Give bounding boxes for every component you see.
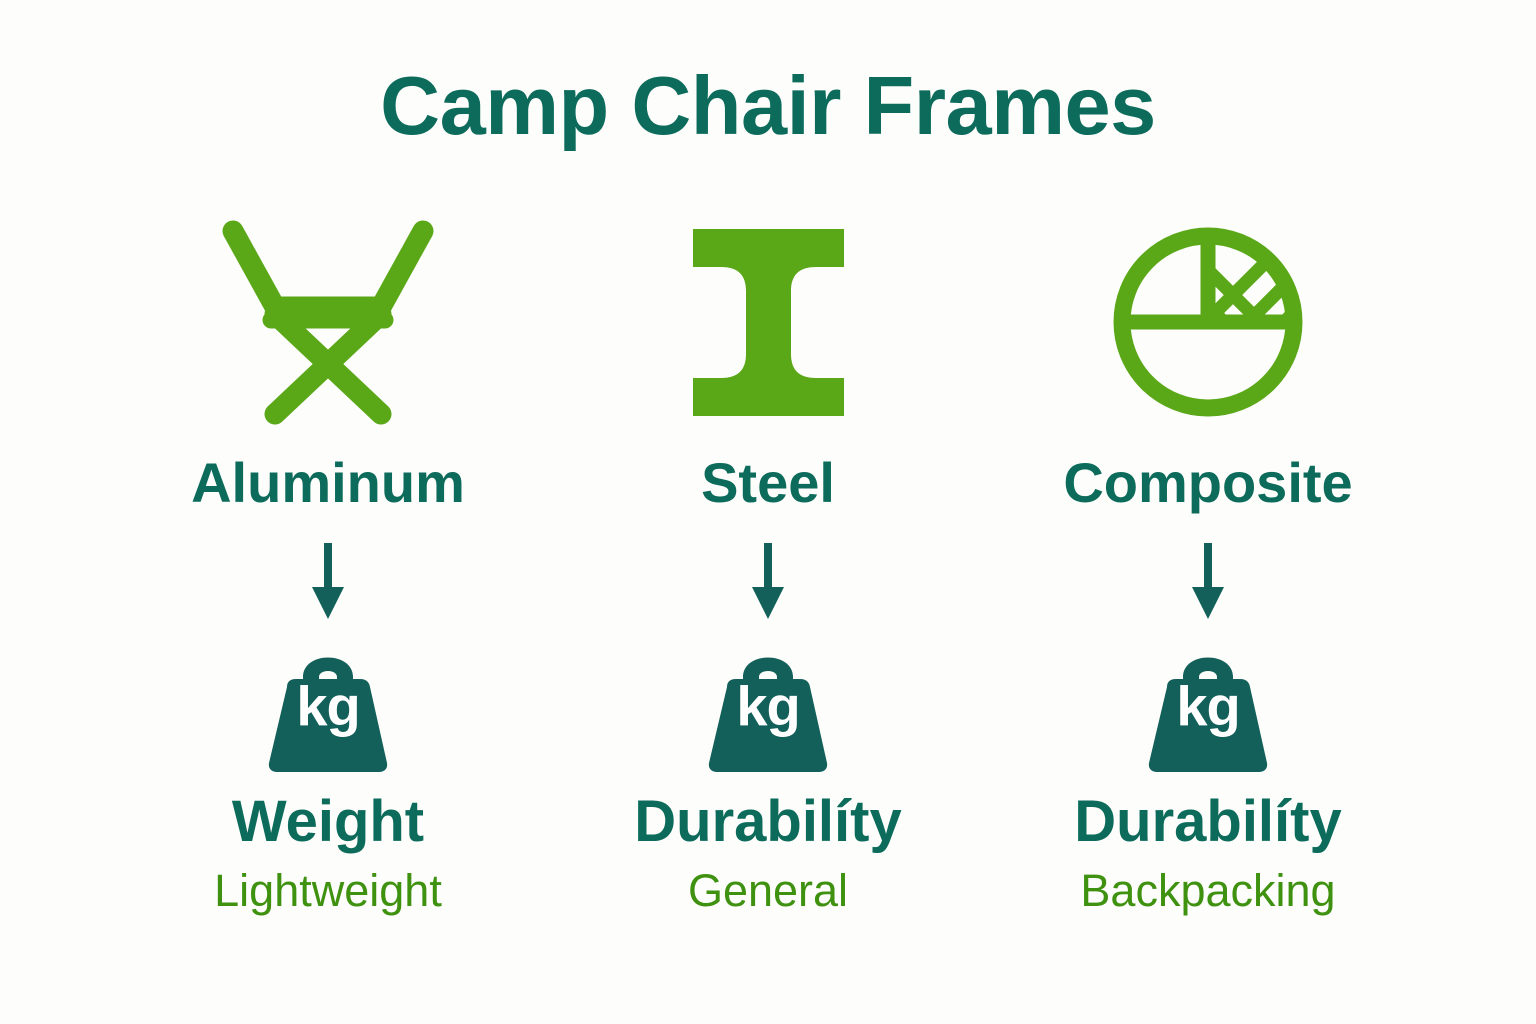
arrow-down-icon	[308, 543, 348, 621]
arrow-down-icon	[1188, 543, 1228, 621]
material-column-aluminum: Aluminum kg Weight Lightweight	[108, 212, 548, 914]
caption-label: Backpacking	[1080, 867, 1335, 914]
page-title: Camp Chair Frames	[0, 62, 1536, 149]
material-column-composite: Composite kg Durabilíty Backpacking	[988, 212, 1428, 914]
caption-label: Lightweight	[214, 867, 442, 914]
kg-weight-icon: kg	[263, 629, 393, 774]
kg-weight-icon: kg	[1143, 629, 1273, 774]
material-label: Aluminum	[191, 454, 465, 513]
infographic-poster: Camp Chair Frames Aluminum	[0, 0, 1536, 1024]
caption-label: General	[688, 867, 848, 914]
material-label: Composite	[1063, 454, 1352, 513]
material-label: Steel	[701, 454, 835, 513]
material-column-steel: Steel kg Durabilíty General	[548, 212, 988, 914]
composite-weave-circle-icon	[1108, 212, 1308, 432]
attribute-label: Durabilíty	[1074, 792, 1342, 853]
folding-camp-chair-icon	[213, 212, 443, 432]
arrow-down-icon	[748, 543, 788, 621]
attribute-label: Durabilíty	[634, 792, 902, 853]
i-beam-icon	[681, 212, 856, 432]
kg-weight-icon: kg	[703, 629, 833, 774]
attribute-label: Weight	[232, 792, 424, 853]
materials-columns: Aluminum kg Weight Lightweight	[0, 212, 1536, 914]
